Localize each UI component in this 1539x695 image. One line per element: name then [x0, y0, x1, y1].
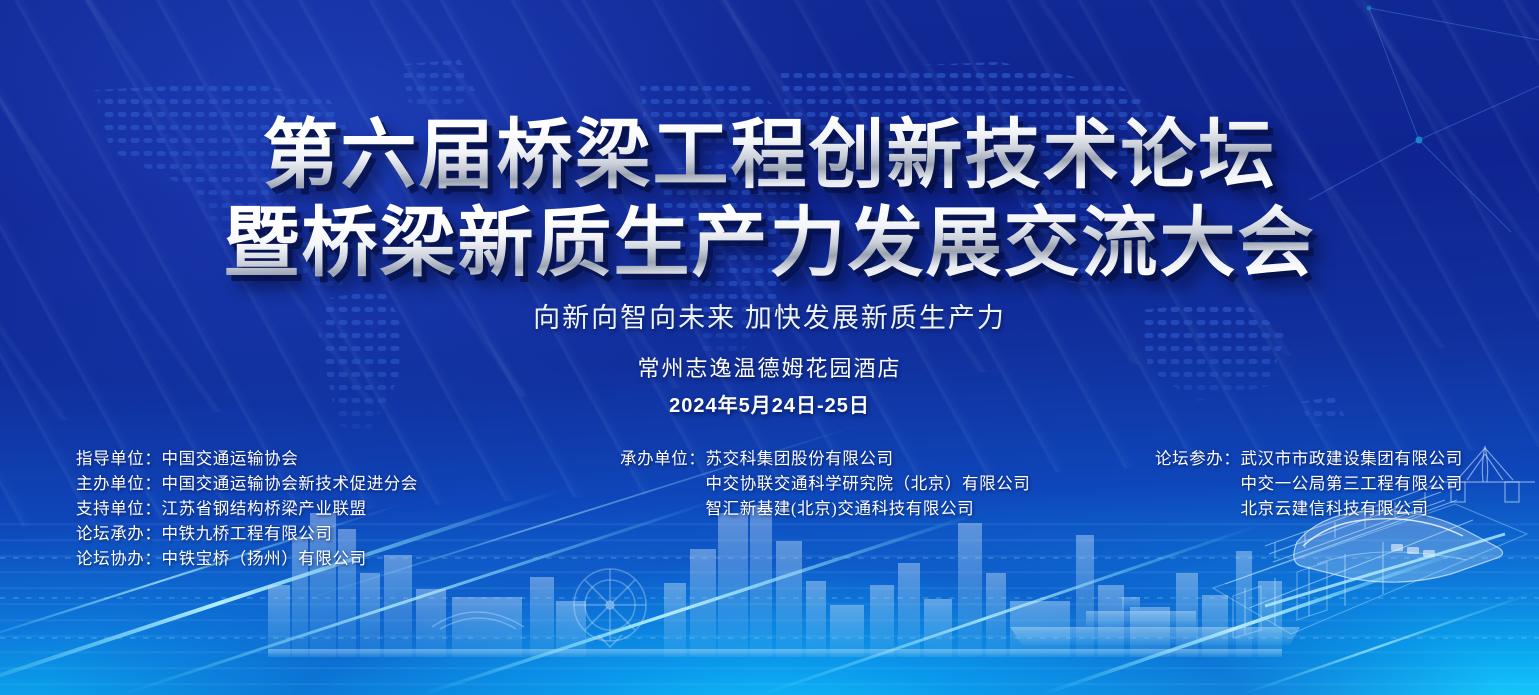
org-value: 中交协联交通科学研究院（北京）有限公司 — [706, 471, 1031, 496]
conference-banner: 第六届桥梁工程创新技术论坛 暨桥梁新质生产力发展交流大会 向新向智向未来 加快发… — [0, 0, 1539, 695]
org-label: 论坛协办： — [76, 546, 162, 571]
organizations: 指导单位：中国交通运输协会主办单位：中国交通运输协会新技术促进分会支持单位：江苏… — [0, 446, 1539, 566]
org-value: 中交一公局第三工程有限公司 — [1241, 471, 1463, 496]
org-value: 中国交通运输协会新技术促进分会 — [162, 471, 419, 496]
subtitle-slogan: 向新向智向未来 加快发展新质生产力 — [0, 296, 1539, 335]
org-row: 承办单位：智汇新基建(北京)交通科技有限公司 — [620, 496, 1030, 521]
org-row: 承办单位：苏交科集团股份有限公司 — [620, 446, 1030, 471]
org-row: 论坛参办：中交一公局第三工程有限公司 — [1155, 471, 1463, 496]
org-label: 指导单位： — [76, 446, 162, 471]
org-row: 主办单位：中国交通运输协会新技术促进分会 — [76, 471, 418, 496]
org-value: 苏交科集团股份有限公司 — [706, 446, 894, 471]
org-label: 支持单位： — [76, 496, 162, 521]
org-row: 指导单位：中国交通运输协会 — [76, 446, 418, 471]
org-row: 论坛参办：武汉市市政建设集团有限公司 — [1155, 446, 1463, 471]
org-value: 江苏省钢结构桥梁产业联盟 — [162, 496, 367, 521]
title-line-1: 第六届桥梁工程创新技术论坛 — [0, 112, 1539, 200]
venue-date: 2024年5月24日-25日 — [0, 389, 1539, 418]
banner-content: 第六届桥梁工程创新技术论坛 暨桥梁新质生产力发展交流大会 向新向智向未来 加快发… — [0, 0, 1539, 695]
org-column-middle: 承办单位：苏交科集团股份有限公司承办单位：中交协联交通科学研究院（北京）有限公司… — [620, 446, 1030, 521]
org-row: 论坛参办：北京云建信科技有限公司 — [1155, 496, 1463, 521]
org-label: 论坛参办： — [1155, 446, 1241, 471]
org-column-left: 指导单位：中国交通运输协会主办单位：中国交通运输协会新技术促进分会支持单位：江苏… — [76, 446, 418, 571]
org-label: 承办单位： — [620, 446, 706, 471]
org-row: 支持单位：江苏省钢结构桥梁产业联盟 — [76, 496, 418, 521]
org-value: 中铁宝桥（扬州）有限公司 — [162, 546, 367, 571]
org-label: 主办单位： — [76, 471, 162, 496]
org-value: 北京云建信科技有限公司 — [1241, 496, 1429, 521]
org-value: 武汉市市政建设集团有限公司 — [1241, 446, 1463, 471]
org-value: 智汇新基建(北京)交通科技有限公司 — [706, 496, 975, 521]
venue-name: 常州志逸温德姆花园酒店 — [0, 351, 1539, 383]
org-row: 论坛协办：中铁宝桥（扬州）有限公司 — [76, 546, 418, 571]
venue-block: 常州志逸温德姆花园酒店 2024年5月24日-25日 — [0, 351, 1539, 418]
org-value: 中铁九桥工程有限公司 — [162, 521, 333, 546]
org-column-right: 论坛参办：武汉市市政建设集团有限公司论坛参办：中交一公局第三工程有限公司论坛参办… — [1155, 446, 1463, 521]
title-line-2: 暨桥梁新质生产力发展交流大会 — [0, 200, 1539, 288]
org-value: 中国交通运输协会 — [162, 446, 299, 471]
org-row: 论坛承办：中铁九桥工程有限公司 — [76, 521, 418, 546]
org-label: 论坛承办： — [76, 521, 162, 546]
main-title: 第六届桥梁工程创新技术论坛 暨桥梁新质生产力发展交流大会 — [0, 112, 1539, 288]
org-row: 承办单位：中交协联交通科学研究院（北京）有限公司 — [620, 471, 1030, 496]
